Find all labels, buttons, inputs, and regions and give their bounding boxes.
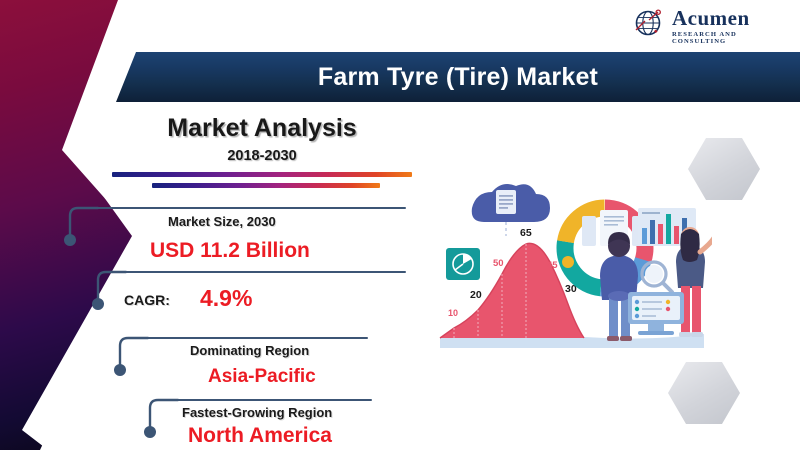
- title-banner: Farm Tyre (Tire) Market: [116, 52, 800, 102]
- logo-wordmark: Acumen RESEARCH AND CONSULTING: [672, 8, 788, 45]
- infographic-canvas: Acumen RESEARCH AND CONSULTING Farm Tyre…: [0, 0, 800, 450]
- logo-name: Acumen: [672, 8, 788, 29]
- business-analytics-illustration: 10 20 50 65 45 30: [432, 170, 712, 355]
- source-text: Source: Acumen Research and Consulting: [508, 428, 724, 440]
- magnifier-icon: [642, 262, 672, 292]
- chart-label-45: 45: [547, 260, 558, 271]
- connector-line-1: [60, 206, 100, 250]
- stat-label-dominating-region: Dominating Region: [190, 343, 309, 358]
- stat-rule-4: [176, 399, 372, 401]
- chart-label-65: 65: [520, 227, 532, 239]
- chart-label-50: 50: [493, 258, 504, 269]
- chart-label-10: 10: [448, 308, 458, 318]
- stat-rule-1: [96, 207, 406, 209]
- acumen-logo: Acumen RESEARCH AND CONSULTING: [628, 4, 788, 48]
- page-title: Farm Tyre (Tire) Market: [318, 63, 598, 92]
- connector-line-3: [110, 336, 150, 380]
- stat-label-cagr: CAGR:: [124, 292, 170, 308]
- connector-line-4: [140, 398, 180, 442]
- stat-rule-3: [146, 337, 368, 339]
- stat-value-dominating-region: Asia-Pacific: [208, 366, 316, 388]
- stat-value-market-size: USD 11.2 Billion: [150, 239, 310, 263]
- stat-value-cagr: 4.9%: [200, 285, 252, 312]
- gradient-divider-secondary: [152, 183, 380, 188]
- stat-value-fastest-growing-region: North America: [188, 424, 332, 448]
- pie-chart-icon: [446, 248, 480, 280]
- chart-label-20: 20: [470, 289, 482, 301]
- stat-rule-2: [124, 271, 406, 273]
- stat-label-fastest-growing-region: Fastest-Growing Region: [182, 405, 332, 420]
- stat-label-market-size: Market Size, 2030: [168, 214, 276, 229]
- logo-tagline: RESEARCH AND CONSULTING: [672, 31, 788, 45]
- connector-line-2: [88, 270, 128, 314]
- globe-icon: [632, 8, 666, 42]
- gradient-divider-primary: [112, 172, 412, 177]
- monitor-list-panel: [628, 292, 684, 335]
- cloud-icon: [472, 184, 550, 236]
- analysis-heading: Market Analysis: [112, 114, 412, 143]
- analysis-years: 2018-2030: [112, 148, 412, 164]
